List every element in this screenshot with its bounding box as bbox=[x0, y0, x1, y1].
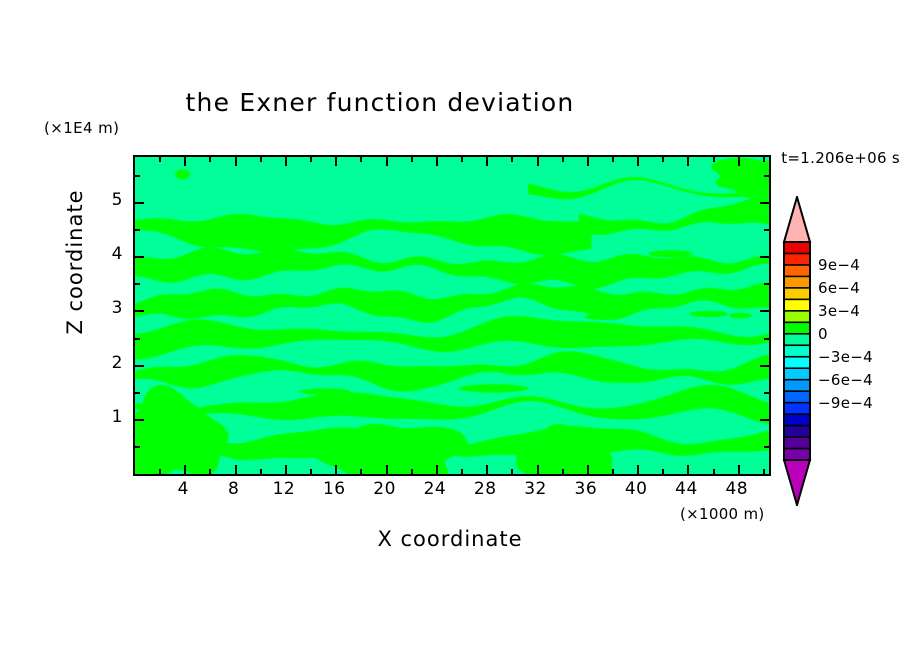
x-axis-tick-label: 4 bbox=[158, 479, 208, 499]
y-axis-tick bbox=[764, 283, 769, 285]
x-axis-tick bbox=[486, 465, 488, 474]
x-axis-tick bbox=[713, 157, 715, 162]
y-axis-title: Z coordinate bbox=[63, 172, 87, 352]
colorbar-band bbox=[784, 357, 810, 369]
colorbar-band bbox=[784, 311, 810, 323]
colorbar-band bbox=[784, 380, 810, 392]
colorbar-tick-label: 3e−4 bbox=[818, 302, 860, 320]
colorbar-band bbox=[784, 391, 810, 403]
y-axis-tick bbox=[764, 446, 769, 448]
y-axis-tick bbox=[764, 392, 769, 394]
y-axis-tick bbox=[135, 310, 144, 312]
x-axis-tick bbox=[763, 157, 765, 162]
y-axis-tick bbox=[135, 256, 144, 258]
colorbar-band bbox=[784, 288, 810, 300]
colorbar-band bbox=[784, 299, 810, 311]
x-axis-tick-label: 32 bbox=[511, 479, 561, 499]
colorbar[interactable]: 9e−46e−43e−40−3e−4−6e−4−9e−4 bbox=[780, 196, 814, 506]
x-axis-tick-label: 24 bbox=[410, 479, 460, 499]
y-axis-tick bbox=[135, 338, 140, 340]
x-axis-tick-label: 12 bbox=[259, 479, 309, 499]
colorbar-svg bbox=[780, 196, 814, 506]
x-axis-tick bbox=[310, 469, 312, 474]
x-axis-tick bbox=[285, 465, 287, 474]
x-axis-tick bbox=[411, 157, 413, 162]
x-axis-tick bbox=[360, 469, 362, 474]
x-axis-tick bbox=[209, 157, 211, 162]
colorbar-band bbox=[784, 426, 810, 438]
y-axis-tick-label: 4 bbox=[99, 244, 123, 264]
x-axis-tick bbox=[738, 465, 740, 474]
colorbar-band bbox=[784, 276, 810, 288]
y-axis-tick-label: 1 bbox=[99, 407, 123, 427]
x-axis-tick bbox=[662, 469, 664, 474]
colorbar-band bbox=[784, 414, 810, 426]
x-axis-tick-label: 44 bbox=[661, 479, 711, 499]
x-axis-tick bbox=[562, 469, 564, 474]
x-axis-tick-label: 16 bbox=[309, 479, 359, 499]
x-axis-tick-label: 40 bbox=[611, 479, 661, 499]
colorbar-band bbox=[784, 265, 810, 277]
x-axis-tick bbox=[335, 157, 337, 166]
x-axis-tick-label: 8 bbox=[209, 479, 259, 499]
x-axis-tick bbox=[587, 157, 589, 166]
x-axis-tick bbox=[511, 469, 513, 474]
colorbar-tick-label: −3e−4 bbox=[818, 348, 873, 366]
y-axis-tick bbox=[135, 283, 140, 285]
time-stamp-annotation: t=1.206e+06 s bbox=[781, 149, 900, 167]
x-axis-tick bbox=[461, 157, 463, 162]
x-axis-tick bbox=[386, 465, 388, 474]
x-axis-tick bbox=[713, 469, 715, 474]
colorbar-tick-label: 6e−4 bbox=[818, 279, 860, 297]
x-axis-tick bbox=[637, 465, 639, 474]
y-axis-tick bbox=[764, 229, 769, 231]
colorbar-top-arrow bbox=[784, 197, 810, 242]
x-axis-tick bbox=[260, 469, 262, 474]
x-axis-tick bbox=[562, 157, 564, 162]
x-axis-tick bbox=[511, 157, 513, 162]
x-axis-tick bbox=[360, 157, 362, 162]
x-axis-tick bbox=[184, 157, 186, 166]
x-axis-tick-label: 20 bbox=[360, 479, 410, 499]
x-axis-tick bbox=[738, 157, 740, 166]
colorbar-band bbox=[784, 449, 810, 461]
x-axis-tick bbox=[537, 465, 539, 474]
x-axis-tick bbox=[159, 469, 161, 474]
y-axis-tick bbox=[135, 202, 144, 204]
colorbar-tick-label: 0 bbox=[818, 325, 828, 343]
x-axis-unit-label: (×1000 m) bbox=[680, 505, 765, 523]
x-axis-tick bbox=[310, 157, 312, 162]
x-axis-tick bbox=[411, 469, 413, 474]
x-axis-tick bbox=[335, 465, 337, 474]
x-axis-tick-label: 28 bbox=[460, 479, 510, 499]
x-axis-tick bbox=[235, 465, 237, 474]
y-axis-tick bbox=[760, 256, 769, 258]
x-axis-tick bbox=[386, 157, 388, 166]
y-axis-tick bbox=[135, 365, 144, 367]
y-axis-tick-label: 3 bbox=[99, 298, 123, 318]
x-axis-tick bbox=[461, 469, 463, 474]
x-axis-tick bbox=[612, 469, 614, 474]
contour-field-canvas bbox=[135, 157, 769, 474]
x-axis-tick bbox=[662, 157, 664, 162]
colorbar-tick-label: −6e−4 bbox=[818, 371, 873, 389]
colorbar-band bbox=[784, 437, 810, 449]
colorbar-band bbox=[784, 322, 810, 334]
x-axis-tick bbox=[235, 157, 237, 166]
x-axis-tick bbox=[436, 157, 438, 166]
y-axis-tick bbox=[760, 365, 769, 367]
contour-plot-area[interactable] bbox=[133, 155, 771, 476]
y-axis-tick-label: 2 bbox=[99, 353, 123, 373]
colorbar-band bbox=[784, 345, 810, 357]
x-axis-tick bbox=[285, 157, 287, 166]
y-axis-tick bbox=[764, 175, 769, 177]
x-axis-tick bbox=[209, 469, 211, 474]
colorbar-band bbox=[784, 403, 810, 415]
y-axis-tick bbox=[135, 392, 140, 394]
colorbar-tick-label: 9e−4 bbox=[818, 256, 860, 274]
y-axis-tick bbox=[760, 310, 769, 312]
colorbar-band bbox=[784, 242, 810, 254]
y-axis-tick bbox=[135, 446, 140, 448]
x-axis-tick bbox=[436, 465, 438, 474]
x-axis-tick bbox=[687, 465, 689, 474]
x-axis-tick bbox=[763, 469, 765, 474]
colorbar-tick-label: −9e−4 bbox=[818, 394, 873, 412]
x-axis-tick bbox=[612, 157, 614, 162]
colorbar-band bbox=[784, 368, 810, 380]
colorbar-band bbox=[784, 334, 810, 346]
x-axis-tick bbox=[637, 157, 639, 166]
x-axis-tick-label: 36 bbox=[561, 479, 611, 499]
x-axis-tick bbox=[184, 465, 186, 474]
x-axis-tick bbox=[260, 157, 262, 162]
y-axis-tick bbox=[760, 202, 769, 204]
y-axis-tick bbox=[135, 419, 144, 421]
page-title: the Exner function deviation bbox=[0, 88, 760, 117]
x-axis-title: X coordinate bbox=[133, 527, 767, 551]
x-axis-tick bbox=[486, 157, 488, 166]
y-axis-tick bbox=[764, 338, 769, 340]
colorbar-bottom-arrow bbox=[784, 460, 810, 505]
x-axis-tick bbox=[587, 465, 589, 474]
y-axis-tick-label: 5 bbox=[99, 190, 123, 210]
y-axis-tick bbox=[135, 229, 140, 231]
x-axis-tick bbox=[537, 157, 539, 166]
y-axis-unit-label: (×1E4 m) bbox=[44, 119, 119, 137]
y-axis-tick bbox=[135, 175, 140, 177]
x-axis-tick-label: 48 bbox=[712, 479, 762, 499]
y-axis-tick bbox=[760, 419, 769, 421]
colorbar-band bbox=[784, 253, 810, 265]
x-axis-tick bbox=[159, 157, 161, 162]
x-axis-tick bbox=[687, 157, 689, 166]
